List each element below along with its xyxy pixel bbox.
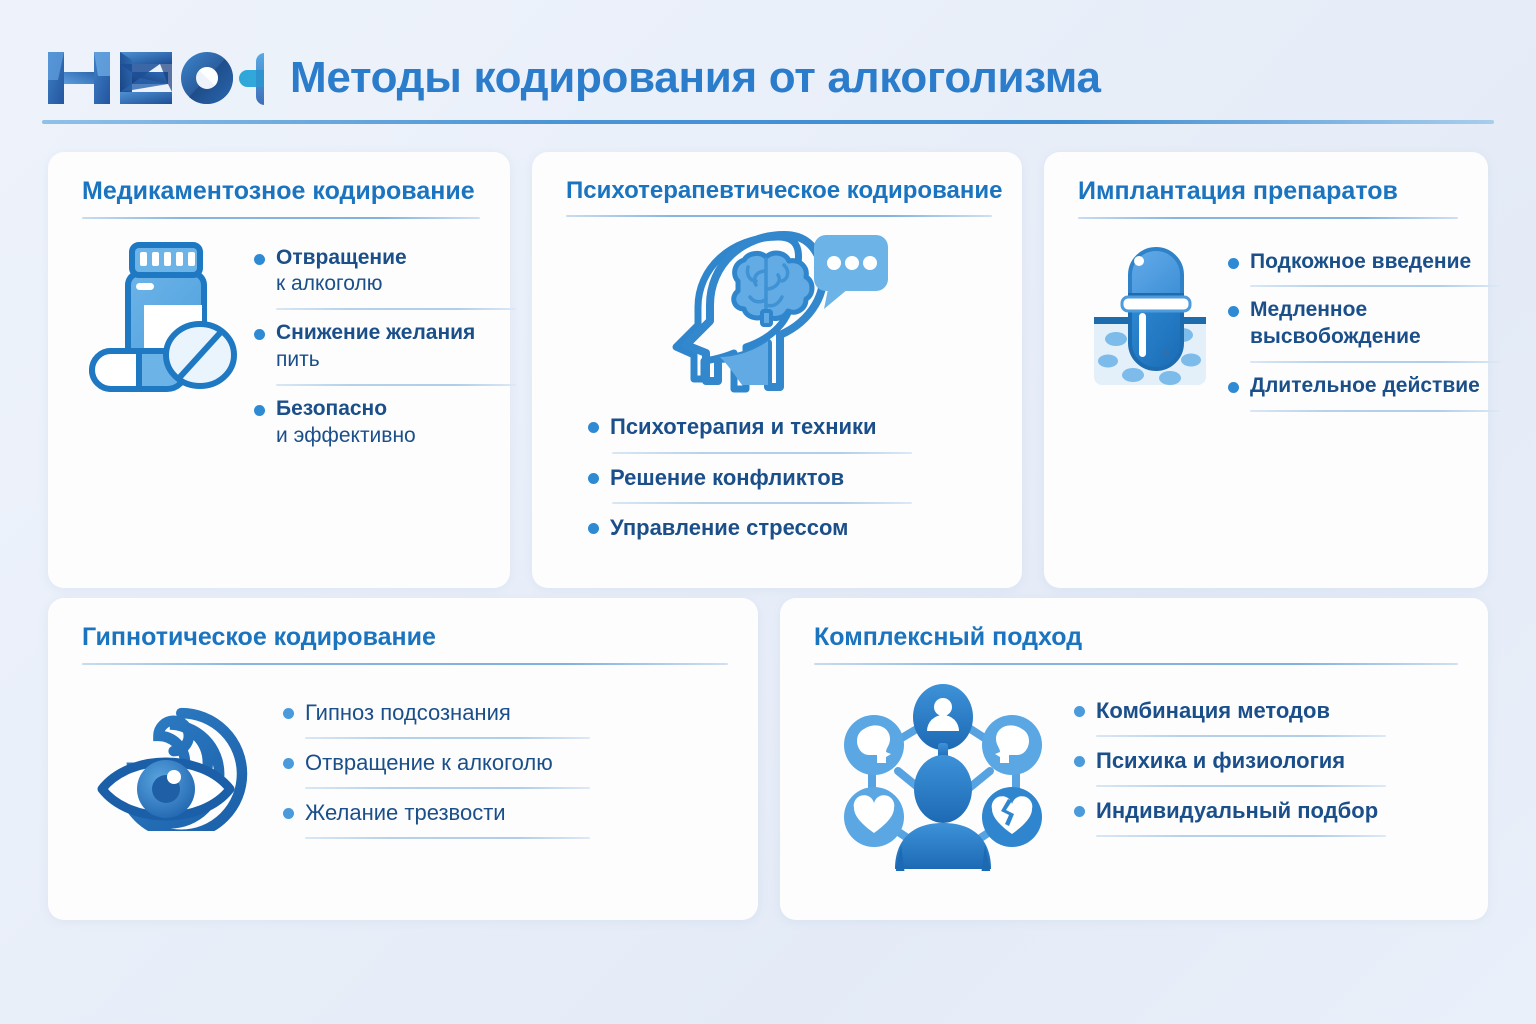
card-title-psychotherapeutic: Психотерапевтическое кодирование [566, 178, 992, 204]
list-separator [276, 308, 516, 310]
bullet-dot-icon [1228, 306, 1239, 317]
list-separator [612, 502, 912, 504]
bullet-main-text: Безопасно [276, 396, 416, 423]
card-title-divider [1078, 217, 1458, 219]
card-psychotherapeutic[interactable]: Психотерапевтическое кодирование [532, 152, 1022, 588]
bullet-list-complex: Комбинация методов Психика и физиология … [1048, 681, 1458, 847]
bullet-list-psychotherapeutic: Психотерапия и техники Решение конфликто… [566, 413, 992, 541]
list-item[interactable]: Психотерапия и техники [588, 413, 992, 441]
list-separator [1096, 835, 1386, 837]
list-item[interactable]: Гипноз подсознания [283, 699, 728, 727]
card-hypnotic[interactable]: Гипнотическое кодирование [48, 598, 758, 920]
card-title-hypnotic: Гипнотическое кодирование [82, 624, 728, 652]
neo-plus-logo [42, 46, 264, 110]
bullet-dot-icon [588, 422, 599, 433]
bullet-main-text: Комбинация методов [1096, 697, 1330, 725]
bullet-dot-icon [588, 473, 599, 484]
bullet-dot-icon [588, 523, 599, 534]
bullet-dot-icon [283, 808, 294, 819]
bullet-main-text: Управление стрессом [610, 514, 848, 542]
list-item[interactable]: Снижение желания пить [254, 320, 516, 374]
bullet-main-text: Гипноз подсознания [305, 699, 511, 727]
card-title-divider [82, 663, 728, 665]
list-item[interactable]: Отвращение к алкоголю [283, 749, 728, 777]
bullet-main-text: Желание трезвости [305, 799, 506, 827]
list-item[interactable]: Подкожное введение [1228, 249, 1500, 276]
bullet-sub-text: и эффективно [276, 423, 416, 450]
bullet-sub-text: высвобождение [1250, 324, 1421, 351]
page-header: Методы кодирования от алкоголизма [42, 28, 1494, 128]
list-item[interactable]: Желание трезвости [283, 799, 728, 827]
bullet-dot-icon [254, 405, 265, 416]
bullet-main-text: Отвращение к алкоголю [305, 749, 553, 777]
header-divider [42, 120, 1494, 124]
list-separator [305, 737, 590, 739]
bullet-list-implantation: Подкожное введение Медленное высвобожден… [1218, 235, 1500, 423]
list-separator [1096, 735, 1386, 737]
list-item[interactable]: Отвращение к алкоголю [254, 245, 516, 299]
bullet-main-text: Отвращение [276, 245, 407, 272]
page-title: Методы кодирования от алкоголизма [290, 56, 1101, 100]
bullet-dot-icon [1074, 756, 1085, 767]
card-title-complex: Комплексный подход [814, 624, 1458, 652]
card-title-divider [814, 663, 1458, 665]
bullet-dot-icon [283, 708, 294, 719]
card-medicamentous[interactable]: Медикаментозное кодирование [48, 152, 510, 588]
bullet-list-medicamentous: Отвращение к алкоголю Снижение желания п… [242, 235, 516, 450]
bullet-main-text: Медленное [1250, 297, 1421, 324]
list-item[interactable]: Медленное высвобождение [1228, 297, 1500, 351]
list-item[interactable]: Безопасно и эффективно [254, 396, 516, 450]
bullet-dot-icon [1074, 706, 1085, 717]
head-brain-speech-icon [664, 229, 894, 399]
list-separator [1096, 785, 1386, 787]
bullet-dot-icon [283, 758, 294, 769]
list-separator [305, 787, 590, 789]
bullet-dot-icon [1228, 258, 1239, 269]
bullet-dot-icon [1074, 806, 1085, 817]
bullet-main-text: Подкожное введение [1250, 249, 1471, 276]
card-title-medicamentous: Медикаментозное кодирование [82, 178, 480, 206]
list-separator [1250, 361, 1500, 363]
neo-plus-logo-graphic [42, 46, 264, 110]
list-item[interactable]: Длительное действие [1228, 373, 1500, 400]
bullet-sub-text: к алкоголю [276, 271, 407, 298]
list-separator [1250, 285, 1500, 287]
bullet-list-hypnotic: Гипноз подсознания Отвращение к алкоголю… [261, 681, 728, 849]
hypnosis-eye-spiral-icon [96, 681, 261, 836]
list-item[interactable]: Индивидуальный подбор [1074, 797, 1458, 825]
list-separator [276, 384, 516, 386]
people-network-icon [838, 681, 1048, 876]
bullet-main-text: Решение конфликтов [610, 464, 844, 492]
list-item[interactable]: Решение конфликтов [588, 464, 992, 492]
card-complex[interactable]: Комплексный подход [780, 598, 1488, 920]
bullet-main-text: Психика и физиология [1096, 747, 1345, 775]
bullet-main-text: Индивидуальный подбор [1096, 797, 1378, 825]
bullet-dot-icon [254, 254, 265, 265]
bullet-main-text: Длительное действие [1250, 373, 1480, 400]
bullet-dot-icon [254, 329, 265, 340]
card-title-implantation: Имплантация препаратов [1078, 178, 1458, 206]
card-title-divider [566, 215, 992, 217]
cards-row-bottom: Гипнотическое кодирование [48, 598, 1488, 920]
list-separator [1250, 410, 1500, 412]
capsule-implant-icon [1078, 235, 1218, 400]
card-implantation[interactable]: Имплантация препаратов [1044, 152, 1488, 588]
list-item[interactable]: Управление стрессом [588, 514, 992, 542]
bullet-main-text: Психотерапия и техники [610, 413, 877, 441]
list-separator [305, 837, 590, 839]
cards-row-top: Медикаментозное кодирование [48, 152, 1488, 588]
pill-bottle-icon [82, 235, 242, 400]
bullet-dot-icon [1228, 382, 1239, 393]
card-title-divider [82, 217, 480, 219]
bullet-main-text: Снижение желания [276, 320, 475, 347]
list-item[interactable]: Комбинация методов [1074, 697, 1458, 725]
list-separator [612, 452, 912, 454]
bullet-sub-text: пить [276, 347, 475, 374]
list-item[interactable]: Психика и физиология [1074, 747, 1458, 775]
